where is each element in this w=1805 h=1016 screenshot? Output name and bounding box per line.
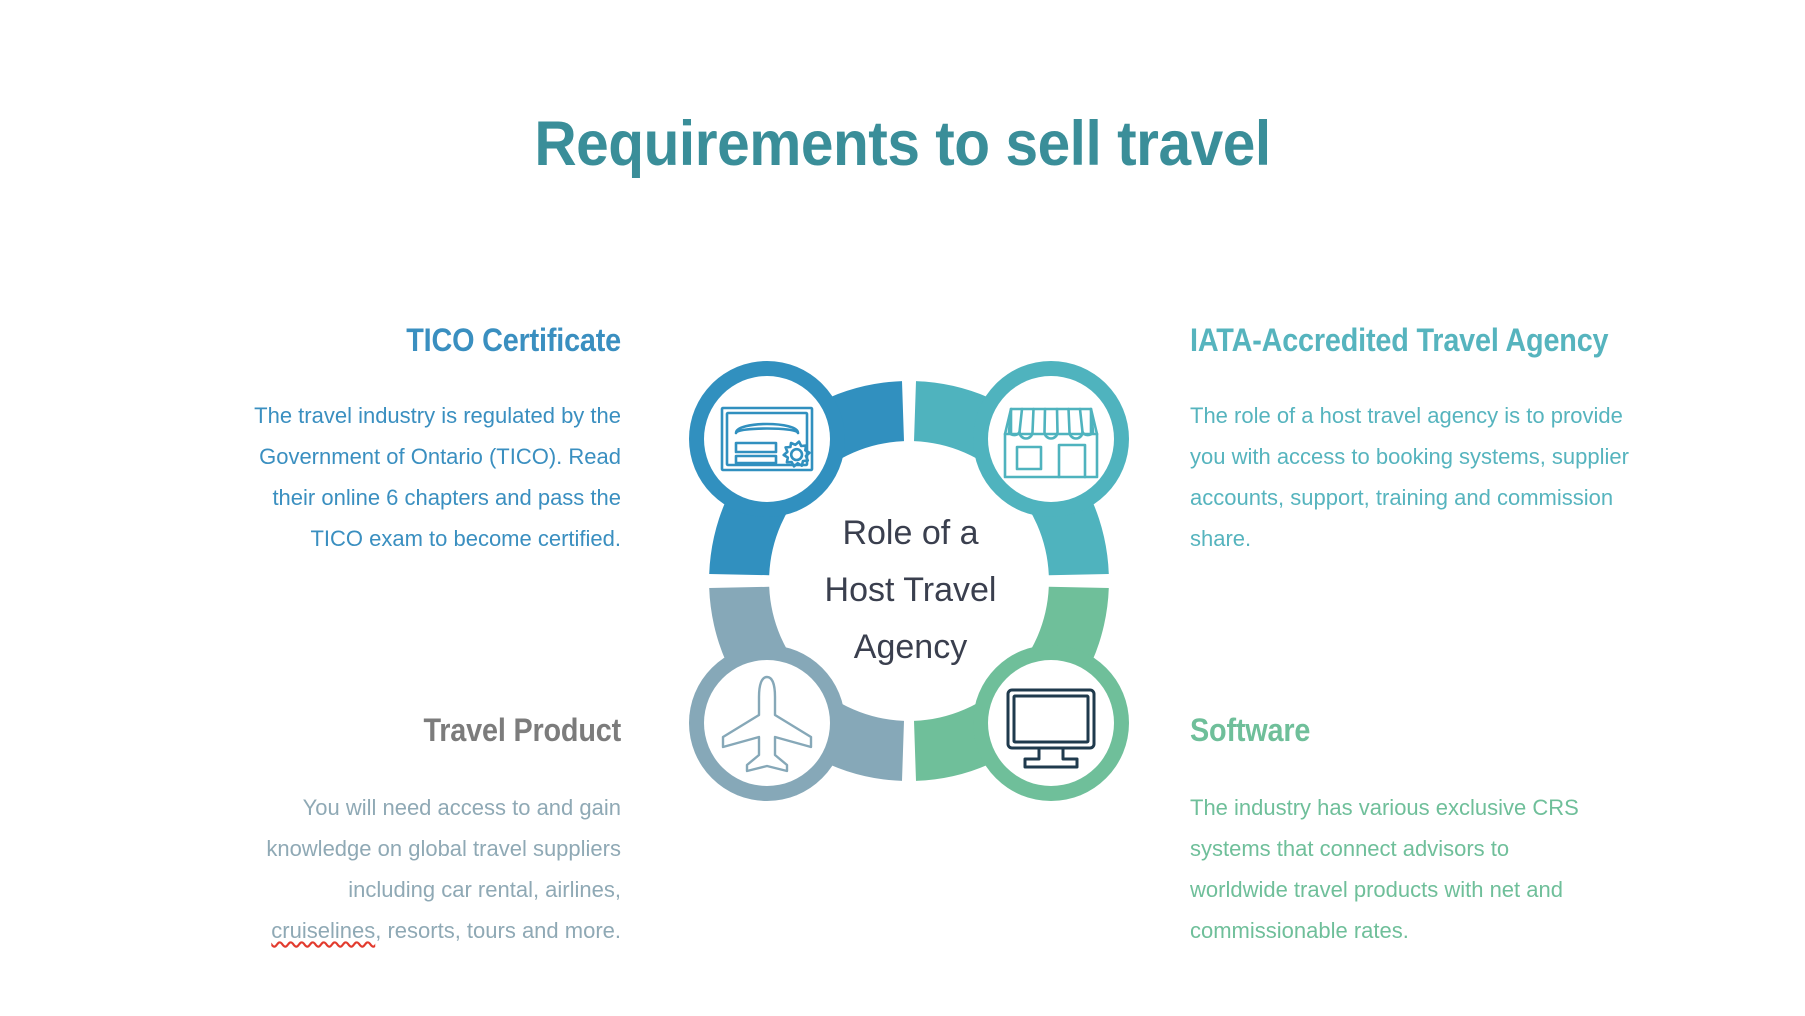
center-line-2: Host Travel — [738, 562, 1083, 619]
section-body-travel-product: You will need access to and gain knowled… — [236, 787, 621, 951]
center-label: Role of a Host Travel Agency — [738, 505, 1083, 676]
slide-canvas: Requirements to sell travel — [0, 0, 1805, 1016]
badge-tico — [689, 361, 845, 517]
misspelled-word[interactable]: cruiselines — [271, 918, 375, 943]
center-line-3: Agency — [738, 619, 1083, 676]
section-body-iata: The role of a host travel agency is to p… — [1190, 395, 1660, 559]
section-heading-travel-product: Travel Product — [275, 712, 622, 749]
page-title: Requirements to sell travel — [63, 108, 1742, 180]
badge-iata — [973, 361, 1129, 517]
section-body-tico: The travel industry is regulated by the … — [236, 395, 621, 559]
section-heading-software: Software — [1190, 712, 1550, 749]
section-iata: IATA-Accredited Travel Agency The role o… — [1190, 322, 1660, 559]
section-heading-tico: TICO Certificate — [275, 322, 622, 359]
section-tico: TICO Certificate The travel industry is … — [236, 322, 621, 559]
section-body-software: The industry has various exclusive CRS s… — [1190, 787, 1590, 951]
center-line-1: Role of a — [738, 505, 1083, 562]
section-travel-product: Travel Product You will need access to a… — [236, 712, 621, 951]
section-heading-iata: IATA-Accredited Travel Agency — [1190, 322, 1613, 359]
section-software: Software The industry has various exclus… — [1190, 712, 1590, 951]
